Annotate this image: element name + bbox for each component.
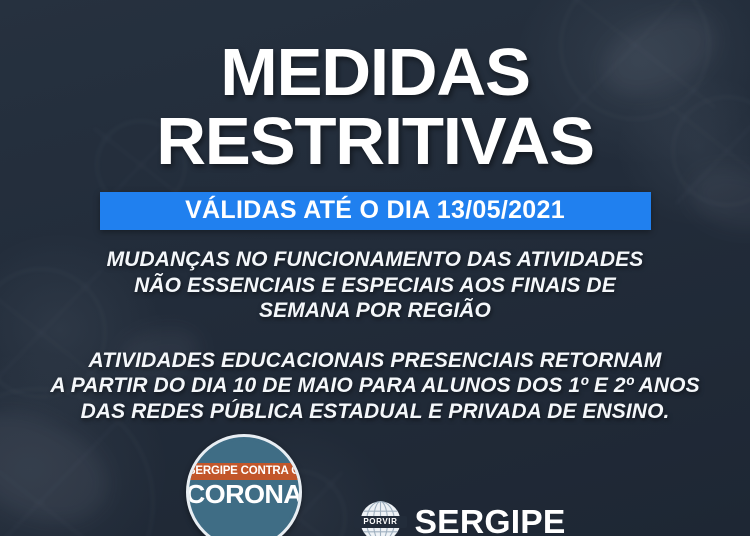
paragraph-1-line-1: MUDANÇAS NO FUNCIONAMENTO DAS ATIVIDADES [107, 247, 644, 273]
globe-porvir-label: PORVIR [354, 516, 407, 528]
paragraph-2-line-1: ATIVIDADES EDUCACIONAIS PRESENCIAIS RETO… [50, 348, 699, 374]
sergipe-wordmark: SERGIPE [414, 505, 565, 536]
title-line-1: MEDIDAS [0, 40, 750, 105]
badge-main-text: CORONA [186, 481, 302, 507]
validity-date-text: VÁLIDAS ATÉ O DIA 13/05/2021 [185, 196, 565, 225]
government-of-sergipe-logo: PORVIR SERGIPE [358, 499, 564, 536]
logo-row: SERGIPE CONTRA O CORONA [0, 434, 750, 536]
globe-icon: PORVIR [358, 499, 403, 536]
sergipe-contra-o-corona-badge: SERGIPE CONTRA O CORONA [186, 434, 302, 536]
page-title: MEDIDAS RESTRITIVAS [0, 40, 750, 174]
title-line-2: RESTRITIVAS [0, 109, 750, 174]
paragraph-1-line-3: SEMANA POR REGIÃO [107, 298, 644, 324]
badge-ribbon-text: SERGIPE CONTRA O [186, 463, 302, 480]
validity-date-banner: VÁLIDAS ATÉ O DIA 13/05/2021 [100, 192, 651, 230]
poster-content: MEDIDAS RESTRITIVAS VÁLIDAS ATÉ O DIA 13… [0, 0, 750, 536]
poster-canvas: MEDIDAS RESTRITIVAS VÁLIDAS ATÉ O DIA 13… [0, 0, 750, 536]
paragraph-2-line-2: A PARTIR DO DIA 10 DE MAIO PARA ALUNOS D… [50, 373, 699, 399]
paragraph-non-essential-activities: MUDANÇAS NO FUNCIONAMENTO DAS ATIVIDADES… [107, 247, 644, 324]
paragraph-1-line-2: NÃO ESSENCIAIS E ESPECIAIS AOS FINAIS DE [107, 273, 644, 299]
paragraph-2-line-3: DAS REDES PÚBLICA ESTADUAL E PRIVADA DE … [50, 399, 699, 425]
paragraph-educational-activities: ATIVIDADES EDUCACIONAIS PRESENCIAIS RETO… [50, 348, 699, 425]
